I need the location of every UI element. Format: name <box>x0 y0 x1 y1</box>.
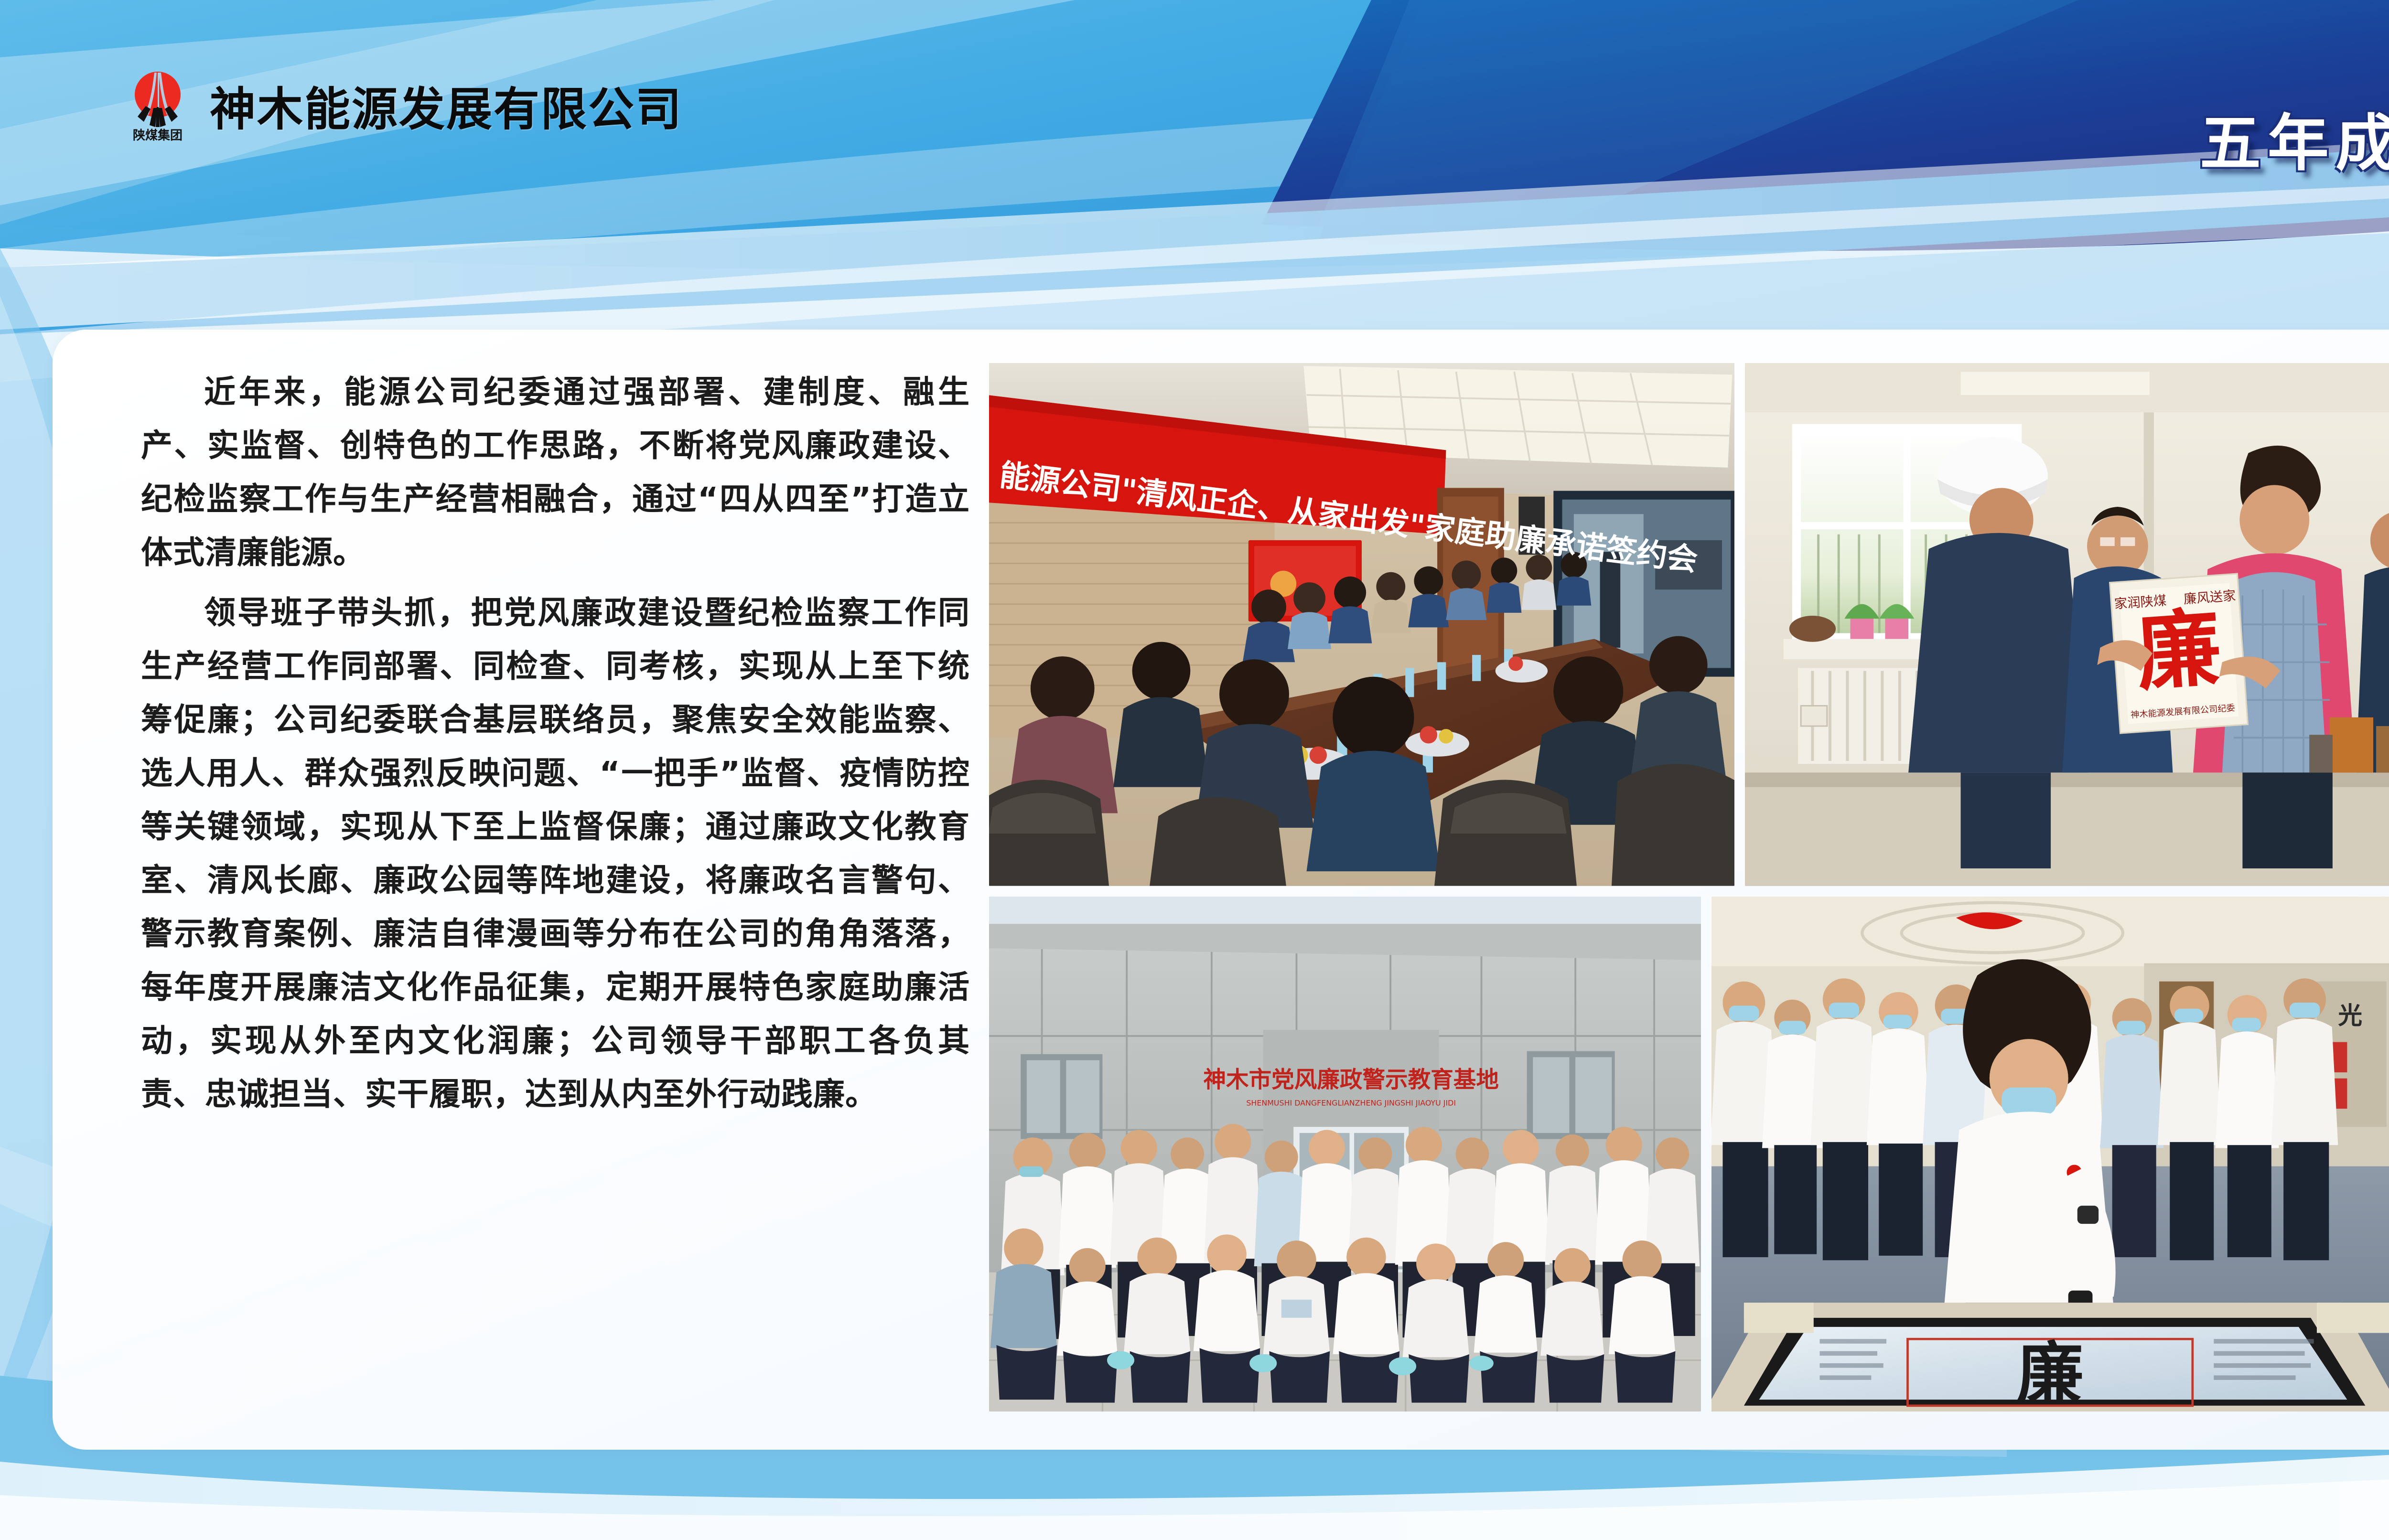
page-header: 陕煤集团 神木能源发展有限公司 五年成果展- 党风廉政篇 <box>0 0 2389 267</box>
svg-text:光: 光 <box>2338 1001 2362 1029</box>
article-column: 近年来，能源公司纪委通过强部署、建制度、融生产、实监督、创特色的工作思路，不断将… <box>53 330 989 1450</box>
page-title: 五年成果展- 党风廉政篇 <box>2200 80 2389 185</box>
photo-home-visit[interactable]: 廉 家润陕煤 廉风送家 神木能源发展有限公司纪委 <box>1745 363 2389 886</box>
company-name: 神木能源发展有限公司 <box>210 72 683 139</box>
photo-signing-ceremony[interactable]: 能源公司"清风正企、从家出发"家庭助廉承诺签约会 <box>989 363 1734 886</box>
logo-wordmark: 陕煤集团 <box>133 128 183 143</box>
brand-lockup: 陕煤集团 神木能源发展有限公司 <box>122 67 683 143</box>
photo-group-photo[interactable]: 神木市党风廉政警示教育基地 SHENMUSHI DANGFENGLIANZHEN… <box>989 897 1701 1412</box>
article-paragraph-1: 近年来，能源公司纪委通过强部署、建制度、融生产、实监督、创特色的工作思路，不断将… <box>141 365 970 579</box>
photo6-building-sign-pinyin: SHENMUSHI DANGFENGLIANZHENG JINGSHI JIAO… <box>1246 1098 1456 1107</box>
article-paragraph-2: 领导班子带头抓，把党风廉政建设暨纪检监察工作同生产经营工作同部署、同检查、同考核… <box>141 586 970 1121</box>
photo-gallery: 能源公司"清风正企、从家出发"家庭助廉承诺签约会 <box>989 330 2389 1450</box>
shaanxi-coal-group-logo-icon: 陕煤集团 <box>122 67 194 143</box>
gallery-row-top: 能源公司"清风正企、从家出发"家庭助廉承诺签约会 <box>989 363 2389 886</box>
page-title-main: 五年成果展- <box>2200 94 2389 182</box>
gallery-row-bottom: 神木市党风廉政警示教育基地 SHENMUSHI DANGFENGLIANZHEN… <box>989 897 2389 1412</box>
photo6-building-sign: 神木市党风廉政警示教育基地 <box>1203 1067 1499 1093</box>
photo7-screen-character: 廉 <box>2017 1334 2084 1412</box>
photo-touchscreen-calligraphy[interactable]: 光 <box>1711 897 2389 1412</box>
content-card: 近年来，能源公司纪委通过强部署、建制度、融生产、实监督、创特色的工作思路，不断将… <box>53 330 2389 1450</box>
